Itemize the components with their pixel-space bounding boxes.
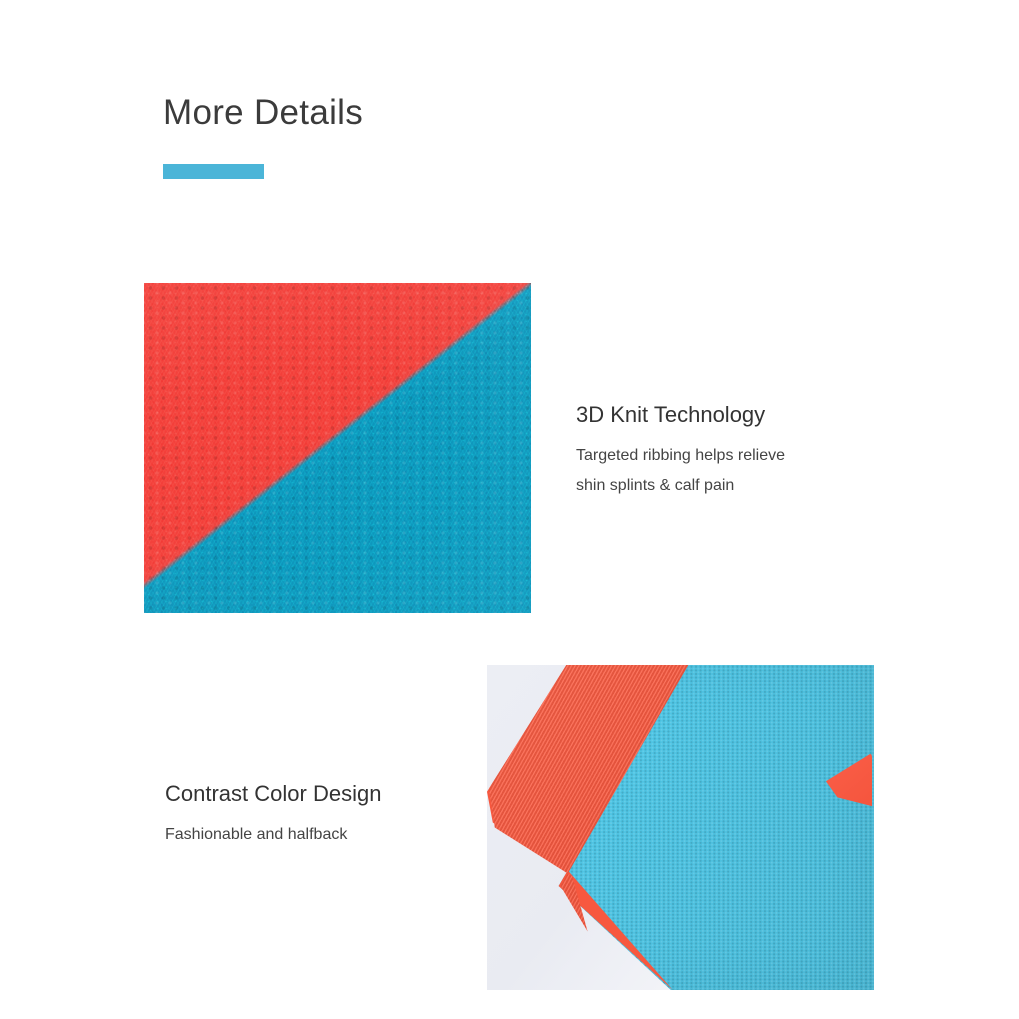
feature-subtext-line: shin splints & calf pain (576, 471, 785, 501)
title-accent-bar (163, 164, 264, 179)
knit-fabric-macro-photo (144, 283, 531, 613)
compression-sleeve-photo (487, 665, 874, 990)
feature-heading-3d-knit-technology: 3D Knit Technology (576, 401, 765, 429)
feature-subtext-line: Targeted ribbing helps relieve (576, 441, 785, 471)
feature-subtext-line: Fashionable and halfback (165, 820, 347, 850)
page-title: More Details (163, 92, 363, 134)
product-detail-page: More Details 3D Knit Technology Targeted… (0, 0, 1019, 1019)
knit-depth-of-field-vignette (144, 283, 531, 613)
feature-subtext-3d-knit-technology: Targeted ribbing helps relieve shin spli… (576, 441, 785, 501)
feature-subtext-contrast-color-design: Fashionable and halfback (165, 820, 347, 850)
feature-heading-contrast-color-design: Contrast Color Design (165, 780, 381, 808)
